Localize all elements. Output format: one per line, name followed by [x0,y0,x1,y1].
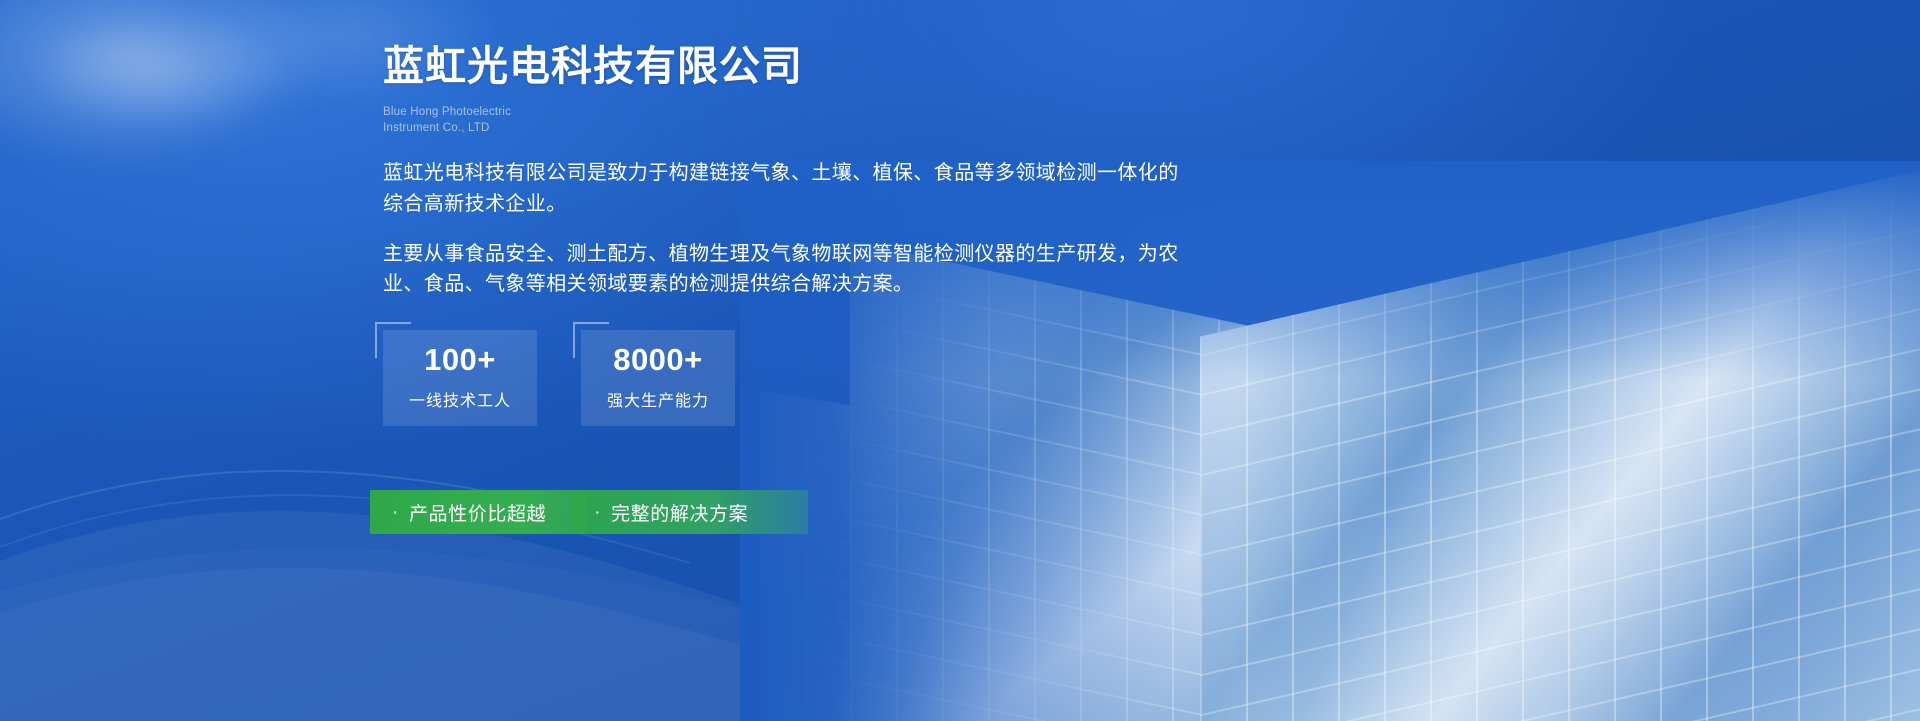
hero-content: 蓝虹光电科技有限公司 Blue Hong Photoelectric Instr… [383,0,1583,426]
stat-card-workers: 100+ 一线技术工人 [383,330,537,426]
bullet-icon: · [392,503,399,522]
feature-tag-label: 产品性价比超越 [409,499,546,526]
stat-label: 一线技术工人 [409,387,511,411]
bullet-icon: · [594,503,601,522]
feature-tag-label: 完整的解决方案 [611,499,748,526]
page-title: 蓝虹光电科技有限公司 [383,0,1583,91]
feature-tags: · 产品性价比超越 · 完整的解决方案 [370,490,808,534]
stat-label: 强大生产能力 [607,387,709,411]
intro-paragraph-2: 主要从事食品安全、测土配方、植物生理及气象物联网等智能检测仪器的生产研发，为农业… [383,239,1183,300]
hero-banner: 蓝虹光电科技有限公司 Blue Hong Photoelectric Instr… [0,0,1920,721]
english-line-2: Instrument Co., LTD [383,121,1583,137]
stat-card-capacity: 8000+ 强大生产能力 [581,330,735,426]
feature-tag-value: · 产品性价比超越 [370,490,586,534]
english-line-1: Blue Hong Photoelectric [383,105,1583,121]
stat-number: 100+ [424,344,496,375]
stat-number: 8000+ [613,344,703,375]
feature-tag-solution: · 完整的解决方案 [572,490,808,534]
intro-paragraph-1: 蓝虹光电科技有限公司是致力于构建链接气象、土壤、植保、食品等多领域检测一体化的综… [383,158,1183,219]
stats-row: 100+ 一线技术工人 8000+ 强大生产能力 [383,330,1583,426]
company-english-name: Blue Hong Photoelectric Instrument Co., … [383,105,1583,136]
